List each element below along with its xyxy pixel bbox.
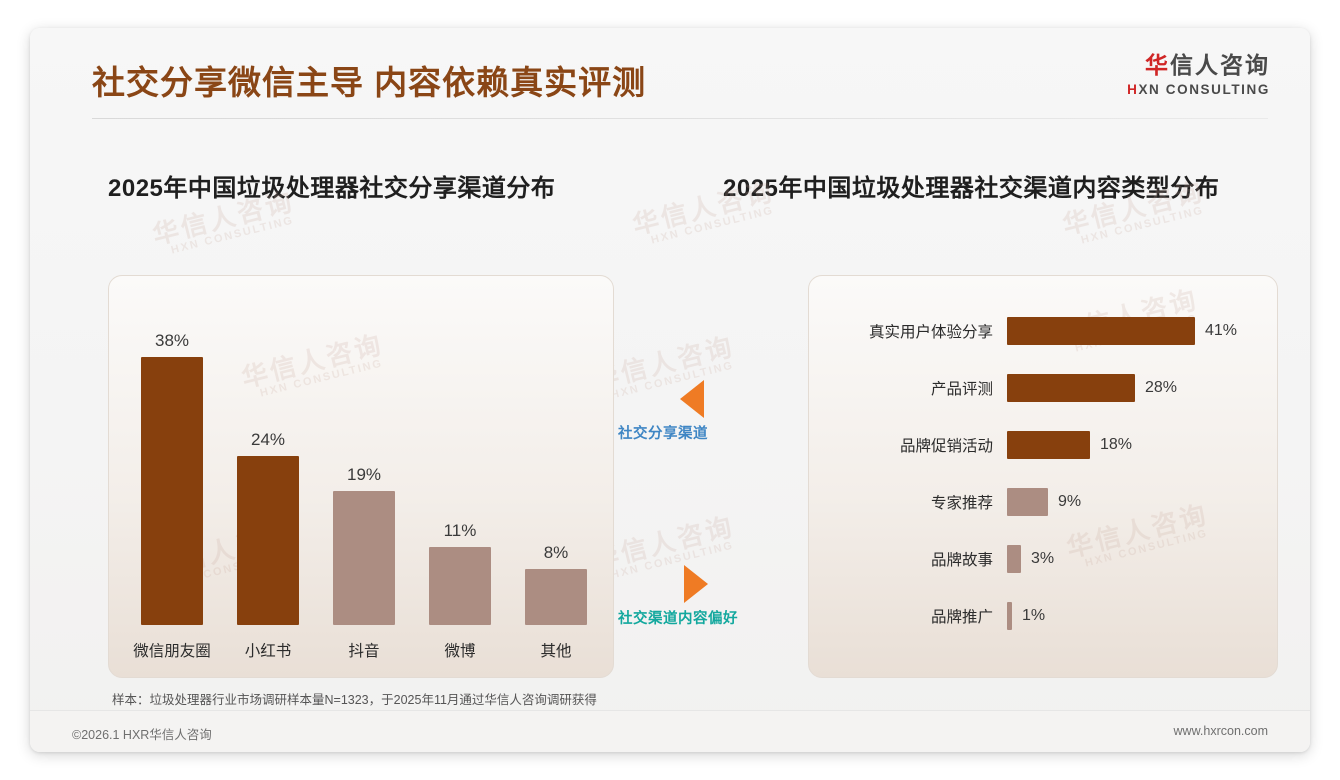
horizontal-bar — [1007, 317, 1195, 345]
vertical-bar — [429, 547, 491, 625]
vertical-bar-group: 8%其他 — [511, 276, 601, 677]
bar-value-label: 11% — [444, 521, 477, 541]
left-chart-panel: 华信人咨询 HXN CONSULTING 华信人咨询 HXN CONSULTIN… — [108, 275, 614, 678]
horizontal-bar-row: 品牌促销活动18% — [809, 428, 1277, 462]
vertical-bar — [237, 456, 299, 625]
bar-value-label: 18% — [1100, 436, 1132, 454]
bar-category-label: 微信朋友圈 — [133, 639, 211, 661]
vertical-bar-group: 11%微博 — [415, 276, 505, 677]
right-chart-panel: 华信人咨询 HXN CONSULTING 华信人咨询 HXN CONSULTIN… — [808, 275, 1278, 678]
page-title: 社交分享微信主导 内容依赖真实评测 — [92, 56, 646, 104]
triangle-left-icon — [680, 380, 704, 418]
bar-category-label: 微博 — [444, 639, 475, 661]
bar-category-label: 品牌推广 — [809, 605, 1007, 627]
title-divider — [92, 118, 1268, 119]
right-chart-title: 2025年中国垃圾处理器社交渠道内容类型分布 — [723, 168, 1219, 203]
slide-card: 社交分享微信主导 内容依赖真实评测 华信人咨询 HXN CONSULTING 2… — [30, 28, 1310, 752]
bar-value-label: 8% — [544, 543, 569, 563]
bar-value-label: 28% — [1145, 379, 1177, 397]
bar-value-label: 3% — [1031, 550, 1054, 568]
bar-value-label: 9% — [1058, 493, 1081, 511]
bar-category-label: 品牌故事 — [809, 548, 1007, 570]
vertical-bar — [141, 357, 203, 625]
annotation-label: 社交分享渠道 — [618, 422, 708, 443]
slide-header: 社交分享微信主导 内容依赖真实评测 华信人咨询 HXN CONSULTING — [30, 28, 1310, 122]
watermark-en: HXN CONSULTING — [650, 204, 780, 247]
logo-rest-chars: 信人咨询 — [1170, 52, 1270, 78]
logo-chinese-text: 华信人咨询 — [1127, 54, 1270, 77]
bar-value-label: 24% — [251, 430, 285, 450]
horizontal-bar-row: 真实用户体验分享41% — [809, 314, 1277, 348]
logo-accent-char: 华 — [1145, 52, 1170, 78]
horizontal-bar — [1007, 488, 1048, 516]
logo-english-text: HXN CONSULTING — [1127, 83, 1270, 97]
bar-value-label: 38% — [155, 331, 189, 351]
bar-category-label: 专家推荐 — [809, 491, 1007, 513]
horizontal-bar-row: 品牌故事3% — [809, 542, 1277, 576]
horizontal-bar-chart: 真实用户体验分享41%产品评测28%品牌促销活动18%专家推荐9%品牌故事3%品… — [809, 276, 1277, 677]
watermark-en: HXN CONSULTING — [170, 214, 300, 257]
horizontal-bar — [1007, 431, 1090, 459]
triangle-right-icon — [684, 565, 708, 603]
brand-logo: 华信人咨询 HXN CONSULTING — [1127, 54, 1270, 97]
vertical-bar — [333, 491, 395, 625]
annotation-label: 社交渠道内容偏好 — [618, 607, 738, 628]
horizontal-bar — [1007, 374, 1135, 402]
horizontal-bar-row: 品牌推广1% — [809, 599, 1277, 633]
bar-value-label: 19% — [347, 465, 381, 485]
bar-category-label: 小红书 — [245, 639, 292, 661]
vertical-bar-group: 19%抖音 — [319, 276, 409, 677]
left-chart-title: 2025年中国垃圾处理器社交分享渠道分布 — [108, 168, 555, 203]
horizontal-bar-row: 专家推荐9% — [809, 485, 1277, 519]
horizontal-bar — [1007, 545, 1021, 573]
logo-en-accent: H — [1127, 82, 1138, 97]
annotation-social-share-channel: 社交分享渠道 — [618, 380, 708, 443]
bar-category-label: 品牌促销活动 — [809, 434, 1007, 456]
vertical-bar-group: 24%小红书 — [223, 276, 313, 677]
bar-category-label: 抖音 — [348, 639, 379, 661]
vertical-bar — [525, 569, 587, 625]
bar-category-label: 真实用户体验分享 — [809, 320, 1007, 342]
annotation-social-channel-content-preference: 社交渠道内容偏好 — [618, 565, 738, 628]
horizontal-bar — [1007, 602, 1012, 630]
vertical-bar-chart: 38%微信朋友圈24%小红书19%抖音11%微博8%其他 — [109, 276, 613, 677]
footer-website[interactable]: www.hxrcon.com — [1174, 724, 1268, 738]
watermark-en: HXN CONSULTING — [1080, 204, 1210, 247]
bar-category-label: 产品评测 — [809, 377, 1007, 399]
horizontal-bar-row: 产品评测28% — [809, 371, 1277, 405]
slide-footer: ©2026.1 HXR华信人咨询 www.hxrcon.com — [30, 710, 1310, 752]
source-note: 样本：垃圾处理器行业市场调研样本量N=1323，于2025年11月通过华信人咨询… — [112, 689, 597, 708]
bar-category-label: 其他 — [540, 639, 571, 661]
bar-value-label: 1% — [1022, 607, 1045, 625]
logo-en-rest: XN CONSULTING — [1138, 82, 1270, 97]
vertical-bar-group: 38%微信朋友圈 — [127, 276, 217, 677]
footer-copyright: ©2026.1 HXR华信人咨询 — [72, 724, 212, 743]
bar-value-label: 41% — [1205, 322, 1237, 340]
